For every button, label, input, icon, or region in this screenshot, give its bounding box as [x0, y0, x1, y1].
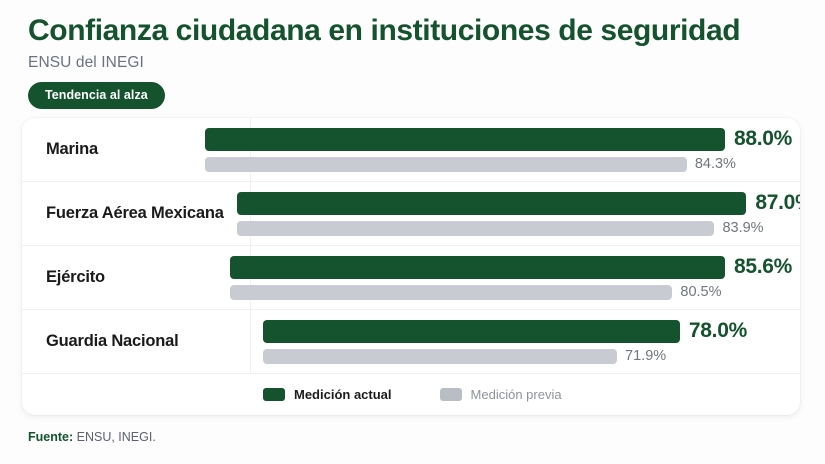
chart-card: Marina 88.0% 84.3% Fuerza Aérea Mexicana — [22, 118, 800, 415]
bar-current — [205, 128, 725, 151]
source-footer: Fuente: ENSU, INEGI. — [28, 430, 156, 444]
legend-swatch-current-icon — [263, 388, 285, 401]
bar-group: 78.0% 71.9% — [250, 310, 800, 373]
chart-legend: Medición actual Medición previa — [22, 374, 800, 414]
chart-header: Confianza ciudadana en instituciones de … — [0, 0, 825, 109]
bar-value-previous: 71.9% — [625, 348, 666, 364]
bar-value-current: 78.0% — [689, 319, 747, 343]
bar-value-previous: 80.5% — [680, 284, 721, 300]
bar-group: 87.0% 83.9% — [224, 182, 800, 245]
table-row: Marina 88.0% 84.3% — [22, 118, 800, 182]
category-label: Fuerza Aérea Mexicana — [22, 204, 224, 223]
bar-current — [230, 256, 725, 279]
legend-item-current: Medición actual — [263, 387, 392, 402]
legend-label-current: Medición actual — [294, 387, 392, 402]
bar-previous — [237, 221, 715, 236]
bar-previous — [263, 349, 617, 364]
legend-swatch-previous-icon — [440, 388, 462, 401]
bar-previous — [205, 157, 687, 172]
bar-line-previous: 80.5% — [230, 284, 792, 300]
bar-rows: Marina 88.0% 84.3% Fuerza Aérea Mexicana — [22, 118, 800, 374]
bar-value-current: 85.6% — [734, 255, 792, 279]
trend-badge: Tendencia al alza — [28, 82, 165, 109]
legend-label-previous: Medición previa — [471, 387, 562, 402]
bar-value-previous: 83.9% — [722, 220, 763, 236]
page-title: Confianza ciudadana en instituciones de … — [28, 14, 825, 49]
page-subtitle: ENSU del INEGI — [28, 54, 825, 72]
category-label: Marina — [22, 140, 192, 159]
category-label: Guardia Nacional — [22, 332, 250, 351]
bar-line-current: 85.6% — [230, 255, 792, 279]
source-text: ENSU, INEGI. — [77, 430, 156, 444]
table-row: Ejército 85.6% 80.5% — [22, 246, 800, 310]
bar-previous — [230, 285, 673, 300]
bar-line-current: 78.0% — [263, 319, 792, 343]
bar-current — [263, 320, 680, 343]
bar-value-current: 87.0% — [755, 191, 800, 215]
chart-page: Confianza ciudadana en instituciones de … — [0, 0, 825, 464]
bar-line-previous: 71.9% — [263, 348, 792, 364]
bar-line-current: 87.0% — [237, 191, 800, 215]
category-label: Ejército — [22, 268, 217, 287]
source-label: Fuente: — [28, 430, 73, 444]
bar-line-previous: 84.3% — [205, 156, 792, 172]
bar-line-current: 88.0% — [205, 127, 792, 151]
table-row: Guardia Nacional 78.0% 71.9% — [22, 310, 800, 374]
table-row: Fuerza Aérea Mexicana 87.0% 83.9% — [22, 182, 800, 246]
bar-current — [237, 192, 747, 215]
bar-group: 85.6% 80.5% — [217, 246, 800, 309]
bar-value-current: 88.0% — [734, 127, 792, 151]
bar-value-previous: 84.3% — [695, 156, 736, 172]
legend-item-previous: Medición previa — [440, 387, 562, 402]
bar-group: 88.0% 84.3% — [192, 118, 800, 181]
bar-line-previous: 83.9% — [237, 220, 800, 236]
